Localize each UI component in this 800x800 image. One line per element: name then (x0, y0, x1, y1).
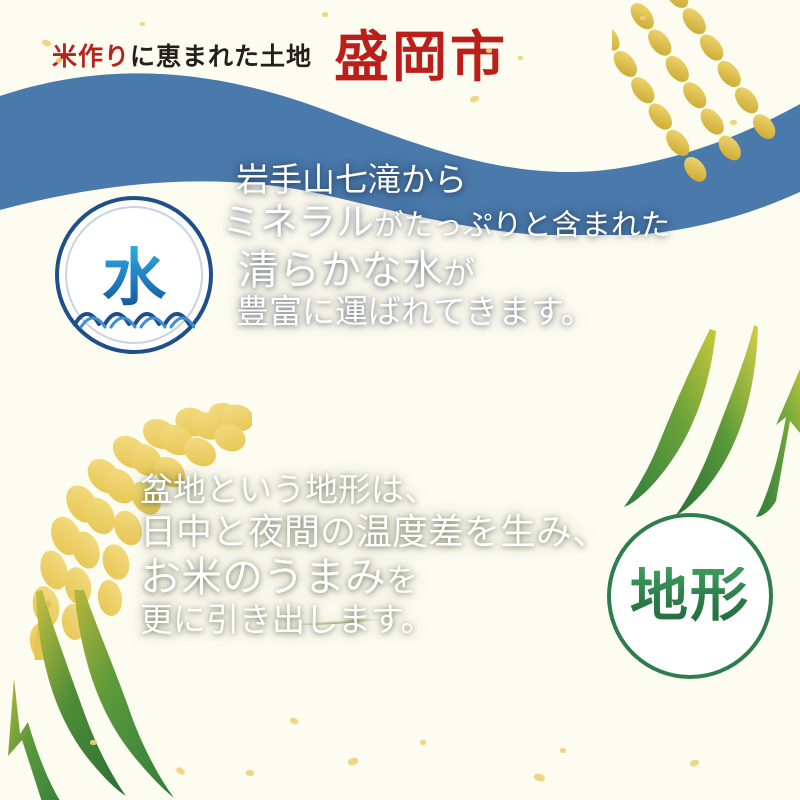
terrain-line-2: 日中と夜間の温度差を生み、 (140, 511, 608, 553)
header-subtitle: 米作りに恵まれた土地 (52, 37, 312, 73)
terrain-line-3-rest: を (386, 563, 418, 598)
terrain-line-3: お米のうまみを (140, 553, 608, 601)
badge-water[interactable]: 水 (55, 196, 213, 354)
water-line-2-main: ミネラル (222, 202, 374, 244)
town-strip (0, 388, 800, 422)
car (10, 428, 32, 437)
water-waves-icon (73, 298, 195, 330)
confetti-fleck (90, 740, 97, 745)
header-subtitle-black: に恵まれた土地 (130, 44, 312, 71)
confetti-fleck (560, 748, 566, 753)
header: 米作りに恵まれた土地 盛岡市 (52, 20, 752, 90)
poster-root: 米作りに恵まれた土地 盛岡市 (0, 0, 800, 800)
confetti-fleck (420, 740, 426, 745)
confetti-fleck (518, 56, 523, 60)
terrain-text-block: 盆地という地形は、 日中と夜間の温度差を生み、 お米のうまみを 更に引き出します… (140, 472, 608, 641)
page-title: 盛岡市 (334, 30, 508, 85)
car (448, 412, 478, 422)
confetti-fleck (322, 12, 328, 17)
terrain-line-3-main: お米のうまみ (140, 554, 386, 600)
water-line-4: 豊富に運ばれてきます。 (236, 294, 670, 333)
badge-terrain-label: 地形 (630, 567, 750, 625)
terrain-line-1: 盆地という地形は、 (140, 472, 608, 511)
badge-terrain[interactable]: 地形 (607, 513, 773, 679)
tractor (440, 434, 466, 447)
water-line-3: 清らかな水が (238, 246, 670, 294)
confetti-fleck (56, 58, 62, 63)
header-subtitle-red: 米作り (52, 44, 130, 71)
water-line-2: ミネラルがたっぷりと含まれた (222, 201, 670, 246)
terrain-line-4: 更に引き出します。 (140, 602, 608, 641)
confetti-fleck (486, 48, 492, 53)
confetti-fleck (640, 16, 646, 20)
water-line-3-rest: が (443, 256, 475, 291)
confetti-fleck (246, 770, 254, 776)
water-line-2-rest: がたっぷりと含まれた (374, 210, 670, 242)
water-line-1: 岩手山七滝から (236, 162, 670, 201)
water-line-3-main: 清らかな水 (238, 247, 443, 293)
water-text-block: 岩手山七滝から ミネラルがたっぷりと含まれた 清らかな水が 豊富に運ばれてきます… (222, 162, 670, 333)
confetti-fleck (140, 22, 145, 26)
confetti-fleck (730, 120, 737, 125)
